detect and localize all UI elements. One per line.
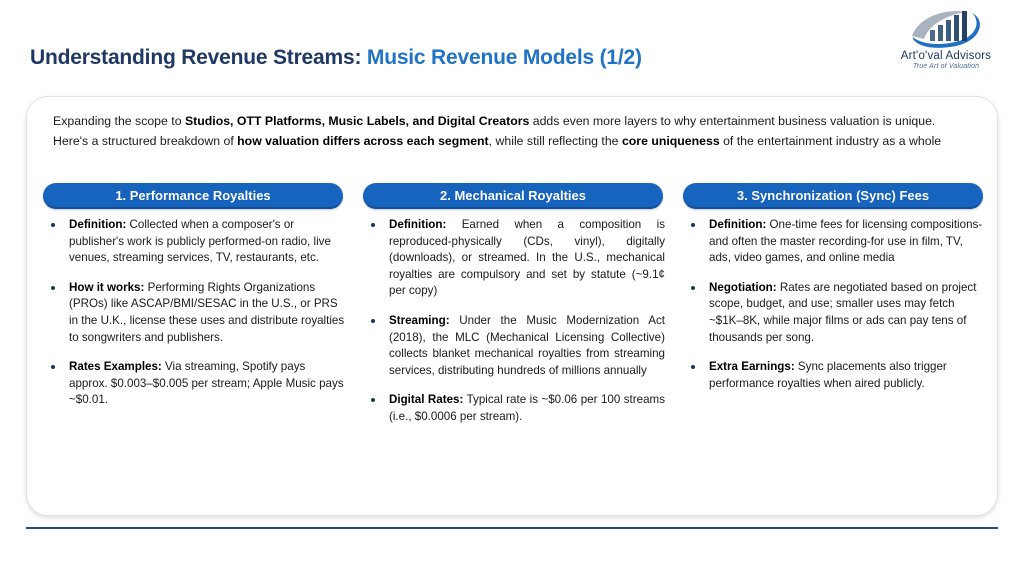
logo-name: Art'o'val Advisors	[882, 50, 1010, 62]
intro-emphasis: core uniqueness	[622, 134, 720, 148]
bullet-list: Definition: Collected when a composer's …	[43, 217, 345, 409]
bullet-item: Rates Examples: Via streaming, Spotify p…	[43, 359, 345, 409]
intro-text: , while still reflecting the	[489, 134, 622, 148]
bullet-label: How it works:	[69, 281, 144, 294]
bullet-item: Extra Earnings: Sync placements also tri…	[683, 359, 985, 392]
bullet-list: Definition: Earned when a composition is…	[363, 217, 665, 426]
bullet-item: Definition: One-time fees for licensing …	[683, 217, 985, 267]
intro-emphasis: how valuation differs across each segmen…	[237, 134, 488, 148]
intro-text: of the entertainment industry as a whole	[720, 134, 941, 148]
intro-emphasis: Studios, OTT Platforms, Music Labels, an…	[185, 114, 529, 128]
bullet-label: Negotiation:	[709, 281, 777, 294]
bullet-label: Streaming:	[389, 314, 450, 327]
column-heading-mechanical-royalties[interactable]: 2. Mechanical Royalties	[363, 183, 663, 209]
column-heading-performance-royalties[interactable]: 1. Performance Royalties	[43, 183, 343, 209]
bullet-item: Digital Rates: Typical rate is ~$0.06 pe…	[363, 392, 665, 425]
bullet-item: Negotiation: Rates are negotiated based …	[683, 280, 985, 346]
bullet-label: Definition:	[389, 218, 446, 231]
logo-tagline: True Art of Valuation	[882, 62, 1010, 71]
column-mechanical-royalties: Definition: Earned when a composition is…	[363, 217, 665, 439]
column-performance-royalties: Definition: Collected when a composer's …	[43, 217, 345, 422]
page-title-secondary: Music Revenue Models (1/2)	[361, 46, 642, 69]
column-heading-synchronization-fees[interactable]: 3. Synchronization (Sync) Fees	[683, 183, 983, 209]
intro-text: Expanding the scope to	[53, 114, 185, 128]
bullet-label: Definition:	[709, 218, 766, 231]
bullet-list: Definition: One-time fees for licensing …	[683, 217, 985, 392]
footer-rule	[26, 527, 998, 529]
bullet-item: Definition: Earned when a composition is…	[363, 217, 665, 300]
page-title: Understanding Revenue Streams: Music Rev…	[30, 46, 642, 70]
brand-logo: Art'o'val Advisors True Art of Valuation	[882, 6, 1010, 80]
bullet-label: Rates Examples:	[69, 360, 162, 373]
column-synchronization-fees: Definition: One-time fees for licensing …	[683, 217, 985, 405]
bullet-item: Definition: Collected when a composer's …	[43, 217, 345, 267]
bullet-item: Streaming: Under the Music Modernization…	[363, 313, 665, 379]
page-title-primary: Understanding Revenue Streams:	[30, 46, 361, 69]
bullet-label: Definition:	[69, 218, 126, 231]
bar-chart-swoosh-icon	[882, 6, 1010, 52]
bullet-label: Extra Earnings:	[709, 360, 795, 373]
content-card: Expanding the scope to Studios, OTT Plat…	[26, 96, 998, 516]
intro-paragraph: Expanding the scope to Studios, OTT Plat…	[53, 111, 971, 151]
bullet-item: How it works: Performing Rights Organiza…	[43, 280, 345, 346]
bullet-label: Digital Rates:	[389, 393, 463, 406]
